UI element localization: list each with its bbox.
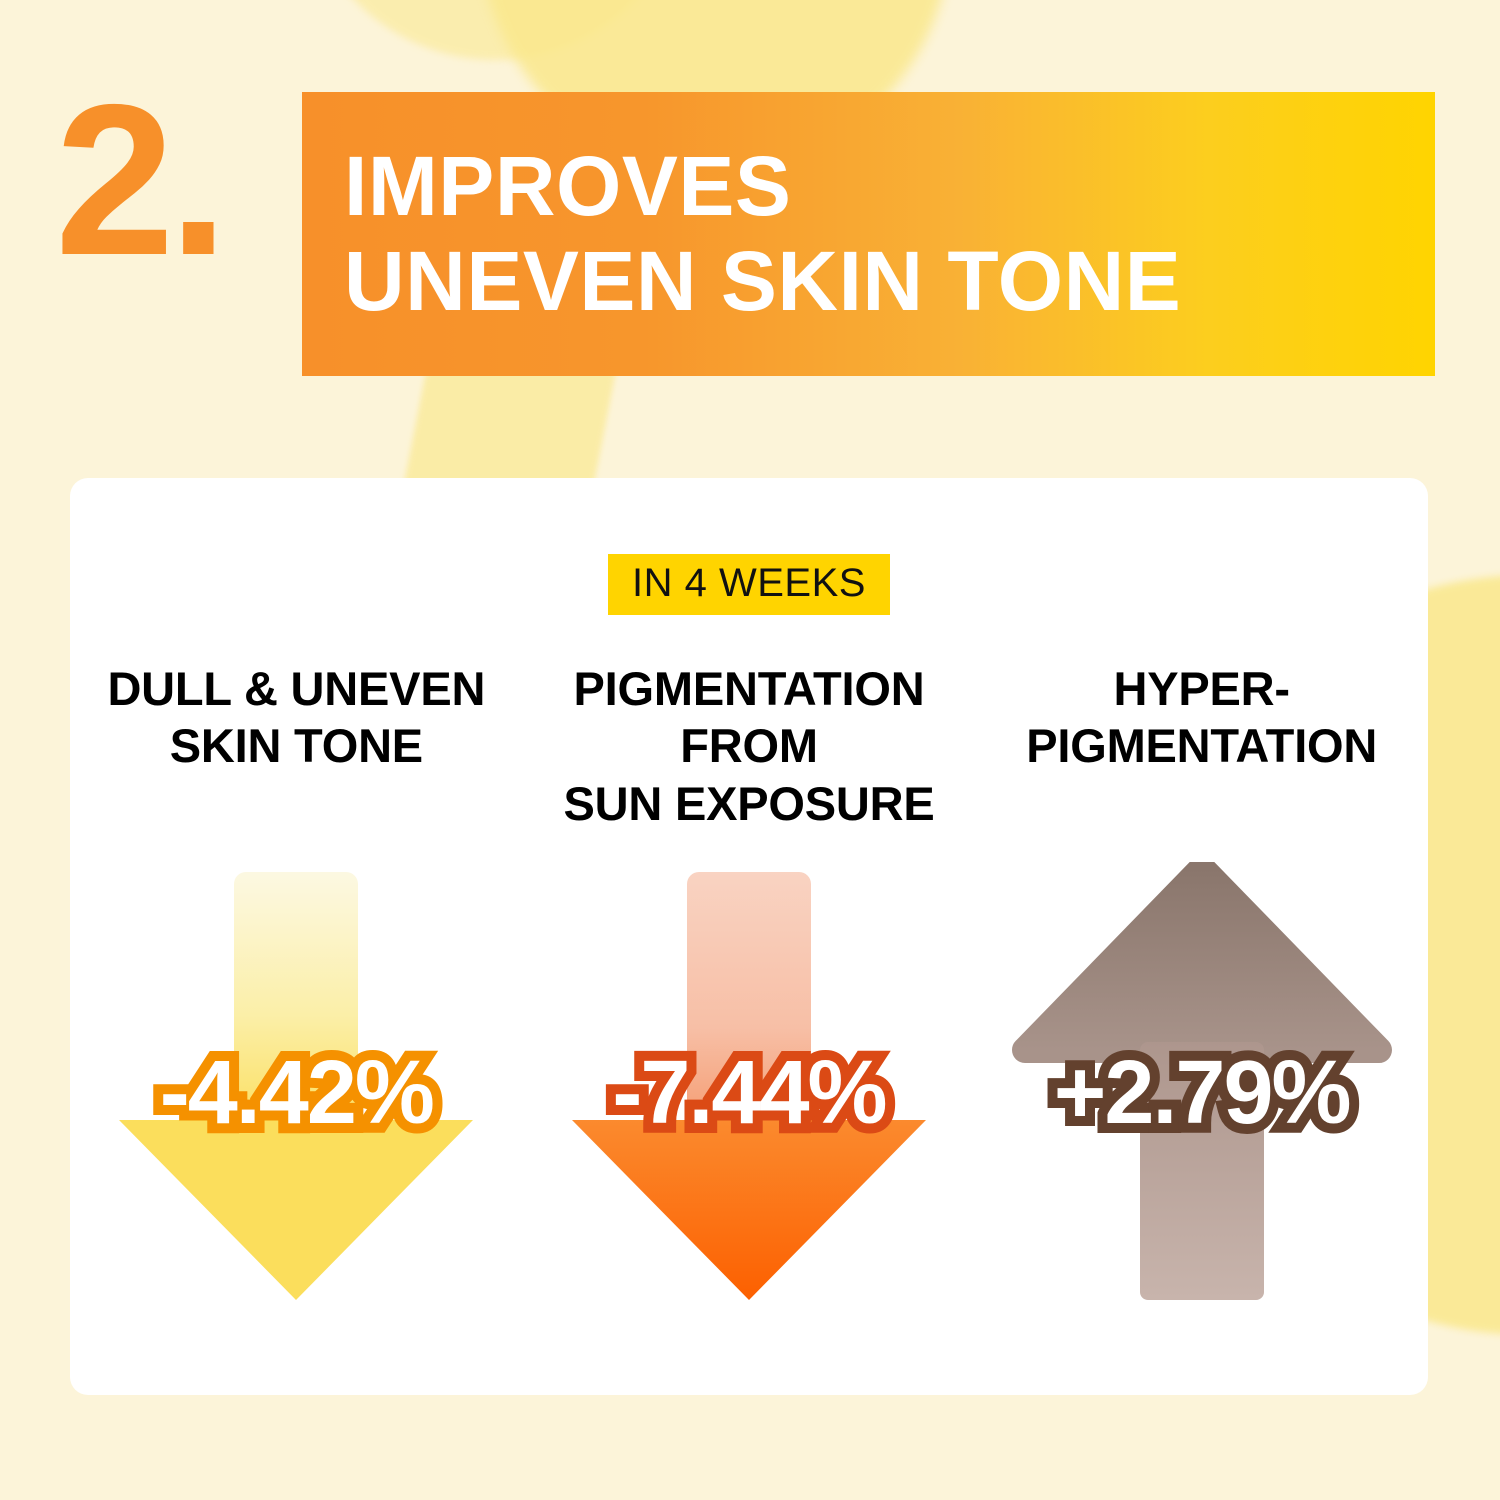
- results-columns: DULL & UNEVEN SKIN TONE -4: [70, 660, 1428, 1302]
- metric-value: -4.42%: [101, 1048, 491, 1138]
- infographic-page: 2. IMPROVES UNEVEN SKIN TONE IN 4 WEEKS …: [0, 0, 1500, 1500]
- step-number: 2.: [55, 72, 222, 287]
- metric-value: -7.44%: [554, 1048, 944, 1138]
- title-banner: IMPROVES UNEVEN SKIN TONE: [302, 92, 1435, 376]
- column-heading: DULL & UNEVEN SKIN TONE: [107, 660, 485, 840]
- result-column-pigmentation-sun-exposure: PIGMENTATION FROM SUN EXPOSURE: [523, 660, 976, 1302]
- timeframe-badge: IN 4 WEEKS: [608, 554, 890, 615]
- title-line-1: IMPROVES: [302, 139, 1435, 234]
- metric-arrow-up-brown: +2.79%: [1007, 862, 1397, 1302]
- result-column-dull-uneven-skin-tone: DULL & UNEVEN SKIN TONE -4: [70, 660, 523, 1302]
- metric-arrow-down-yellow: -4.42%: [101, 862, 491, 1302]
- metric-arrow-down-orange: -7.44%: [554, 862, 944, 1302]
- results-card: IN 4 WEEKS DULL & UNEVEN SKIN TONE: [70, 478, 1428, 1395]
- column-heading: PIGMENTATION FROM SUN EXPOSURE: [563, 660, 934, 840]
- timeframe-badge-wrapper: IN 4 WEEKS: [70, 554, 1428, 615]
- metric-value: +2.79%: [1007, 1048, 1397, 1138]
- title-line-2: UNEVEN SKIN TONE: [302, 234, 1435, 329]
- result-column-hyperpigmentation: HYPER- PIGMENTATION: [975, 660, 1428, 1302]
- decorative-blob-top-left: [300, 0, 690, 60]
- column-heading: HYPER- PIGMENTATION: [1026, 660, 1377, 840]
